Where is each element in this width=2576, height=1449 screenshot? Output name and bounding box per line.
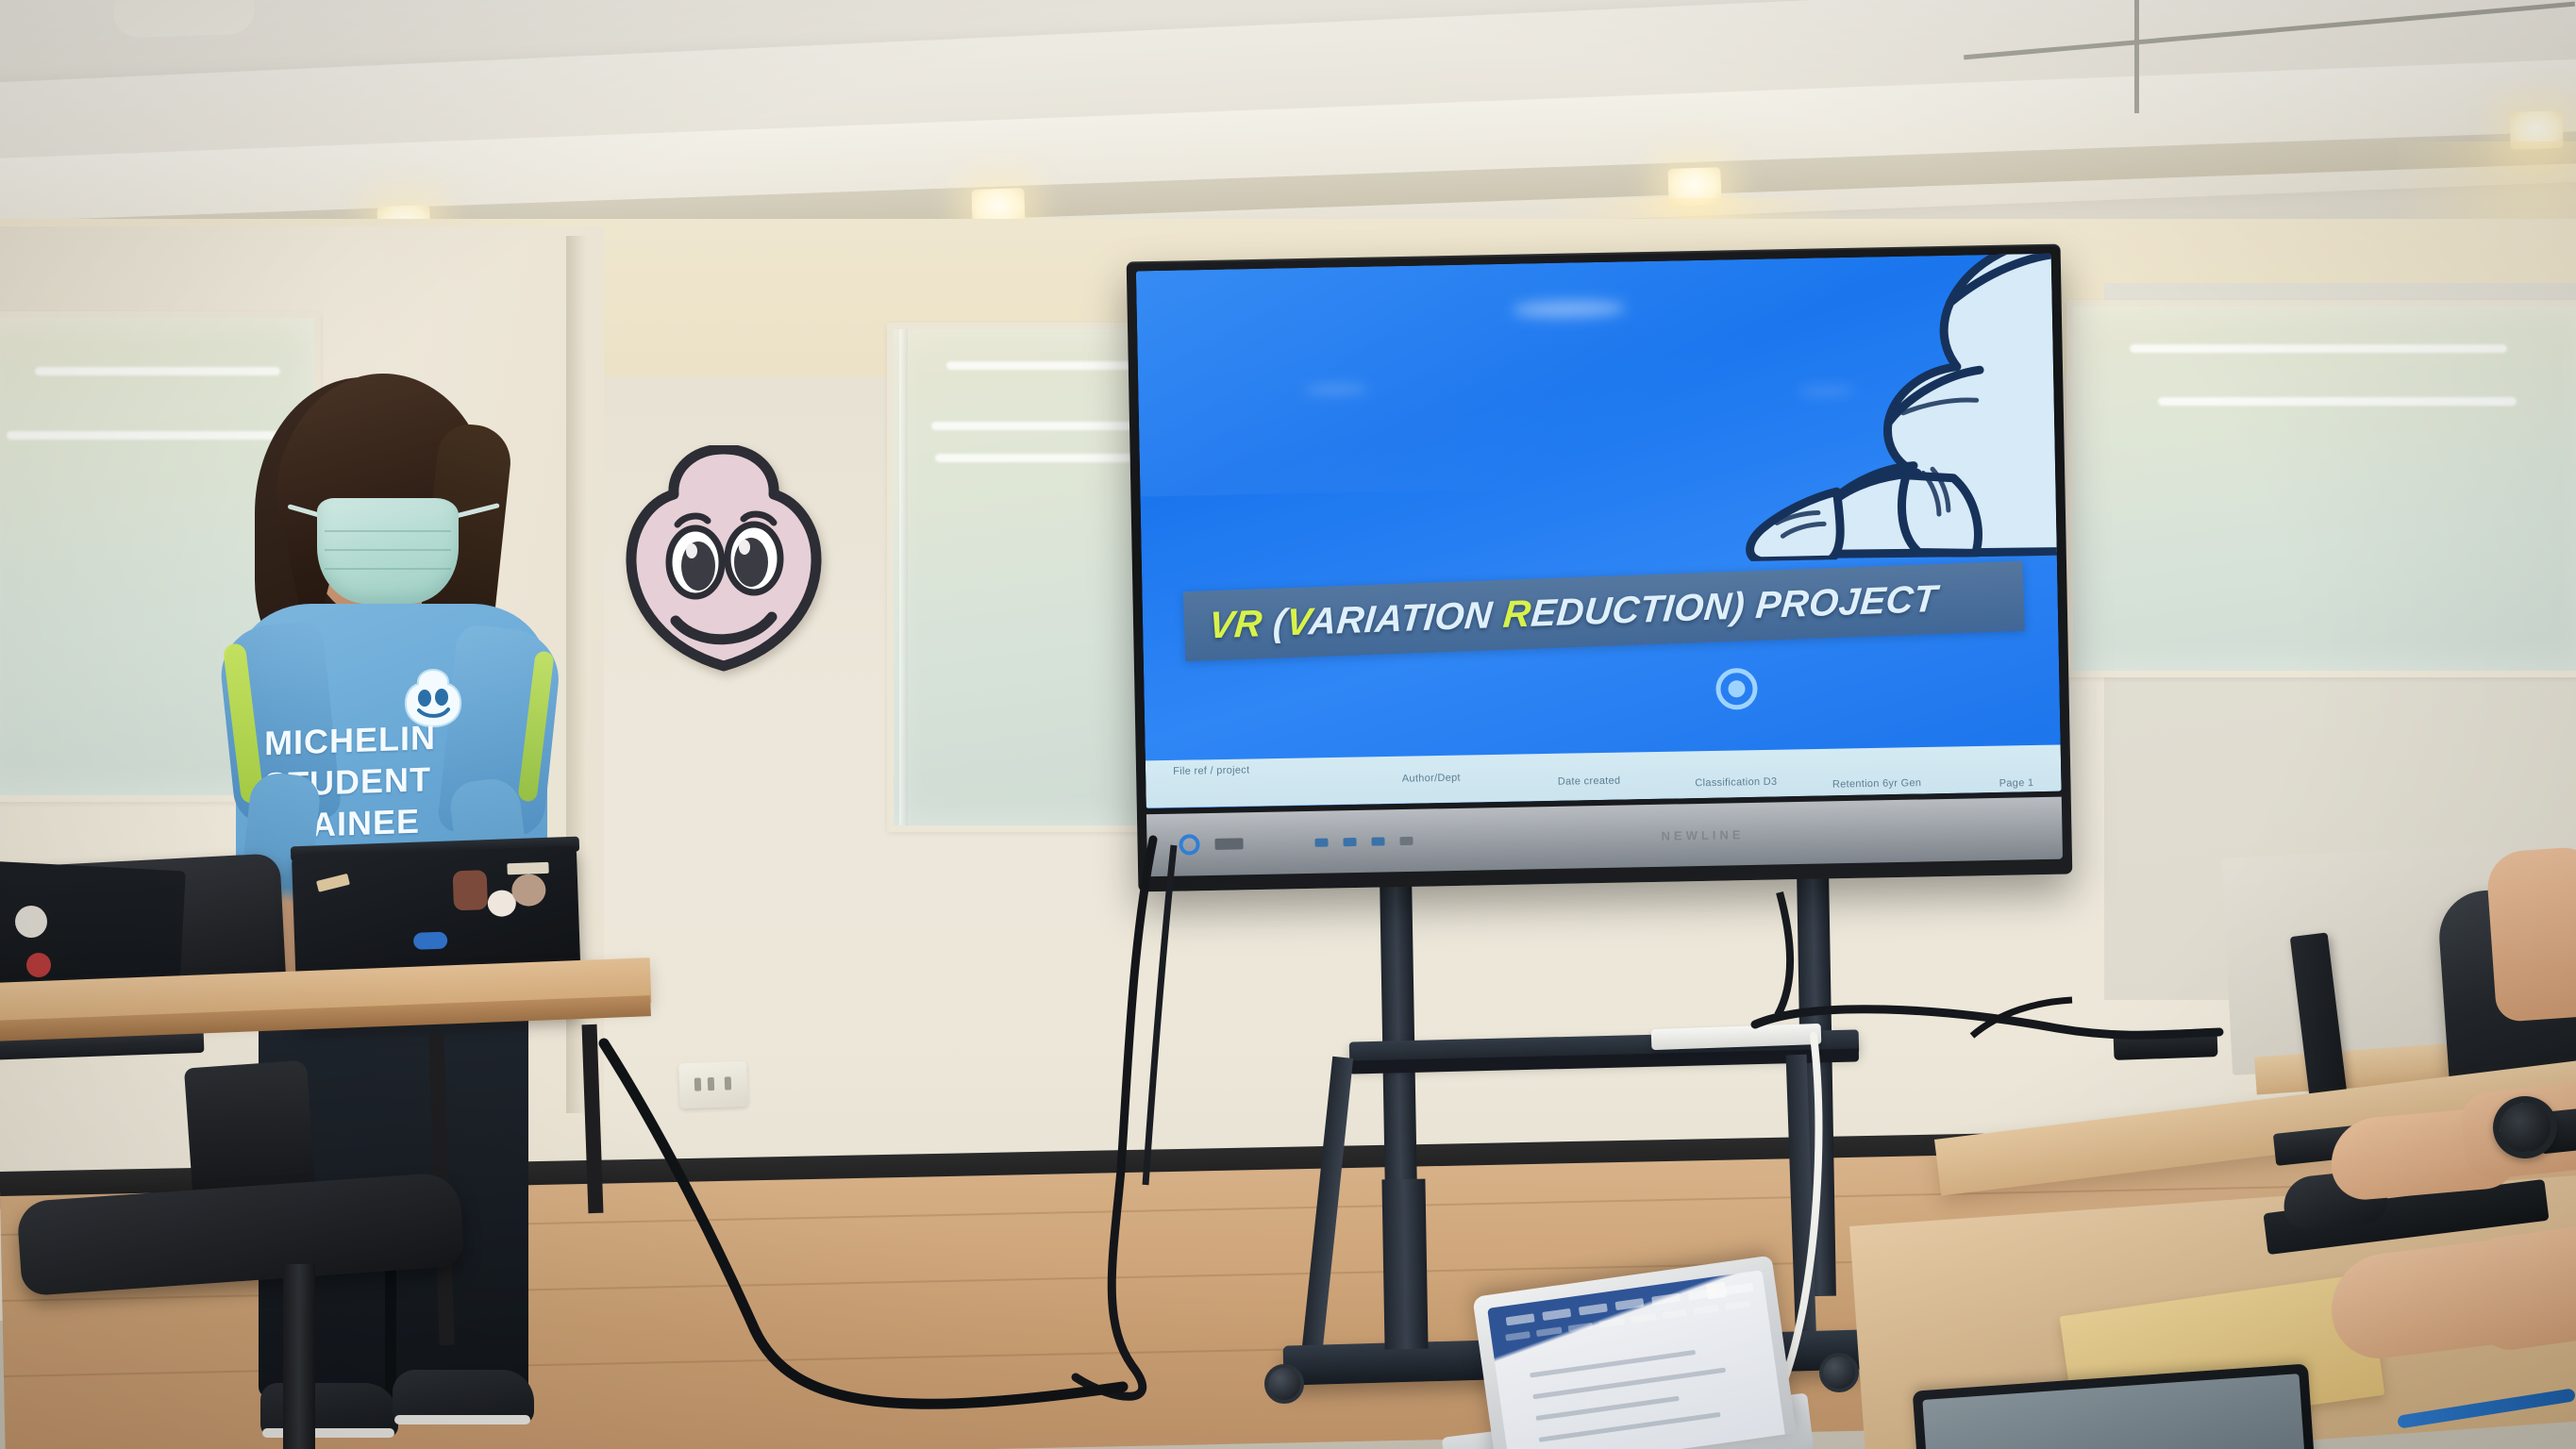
usb-port-icon[interactable] [1314,838,1328,846]
glass-frame [899,329,908,825]
sheet-row [1536,1395,1680,1420]
footer-field-1: File ref / project [1173,765,1249,777]
laptop-sticker [26,953,51,977]
presentation-slide: VR (VARIATION REDUCTION) PROJECT File re… [1136,254,2062,809]
title-part-5: EDUCTION) PROJECT [1530,578,1939,635]
display-brand-label: NEWLINE [1661,827,1744,843]
title-part-3: ARIATION [1307,594,1505,643]
display-control-bar[interactable]: NEWLINE [1146,797,2063,877]
face-mask [317,498,459,604]
power-button[interactable] [1179,834,1199,855]
usb-port-icon[interactable] [1343,837,1356,845]
sticker-tape [316,874,350,892]
cart-caster-left [1264,1364,1304,1404]
footer-field-3: Date created [1558,775,1621,788]
interactive-display[interactable]: VR (VARIATION REDUCTION) PROJECT File re… [1127,244,2073,892]
glass-streak [2158,397,2517,406]
glass-streak [2130,344,2507,353]
sticker-label [507,862,548,875]
footer-field-2: Author/Dept [1402,773,1461,785]
shoe-sole-left [262,1428,394,1438]
wall-power-socket[interactable] [678,1061,748,1108]
app-window-control [1706,1282,1727,1300]
sheet-row [1530,1350,1695,1378]
footer-field-5: Retention 6yr Gen [1832,777,1922,791]
title-part-4: R [1501,593,1532,636]
touch-port-icon[interactable] [1399,836,1413,844]
slide-footer: File ref / project Author/Dept Date crea… [1146,744,2062,808]
sticker-blue-oval [413,932,448,950]
attendee-arm-far [2485,845,2576,1023]
cart-caster-right [1819,1353,1859,1392]
cart-post-lower [1381,1179,1428,1350]
ceiling-speaker [112,0,256,39]
display-bezel: VR (VARIATION REDUCTION) PROJECT File re… [1136,254,2062,809]
sticker-photo-3 [511,874,546,907]
glass-streak [931,422,1154,430]
downlight-3 [1667,167,1721,207]
michelin-man-pointing-hand [1665,254,2061,563]
slide-title-banner: VR (VARIATION REDUCTION) PROJECT [1183,561,2025,662]
foreground-laptop-screen[interactable] [1487,1270,1785,1449]
shoe-sole-right [394,1415,530,1424]
conference-room-photo: MICHELIN STUDENT TRAINEE [0,0,2576,1449]
screen-glare [1303,385,1369,394]
slide-title: VR (VARIATION REDUCTION) PROJECT [1207,578,1939,647]
michelin-man-face-decal [623,445,826,672]
mask-pleat [325,549,451,551]
mask-pleat [325,530,451,532]
ir-sensor-slot [1214,838,1243,850]
glass-partition-right [2066,300,2576,677]
hdmi-port-icon[interactable] [1371,837,1384,845]
ring-cursor-icon [1715,668,1758,710]
footer-field-4: Classification D3 [1695,776,1777,790]
title-part-0: VR [1207,603,1263,646]
ceiling-hanger-rod [2134,0,2139,113]
title-part-1: ( [1261,602,1288,644]
chair-post [283,1264,315,1449]
power-adapter-brick [2114,1028,2218,1060]
screen-glare [1512,299,1625,318]
mask-pleat [325,568,451,570]
sticker-photo-1 [453,870,488,910]
laptop-sticker [15,906,47,938]
footer-page-number: Page 1 [1999,777,2034,790]
downlight-4 [2509,110,2563,150]
